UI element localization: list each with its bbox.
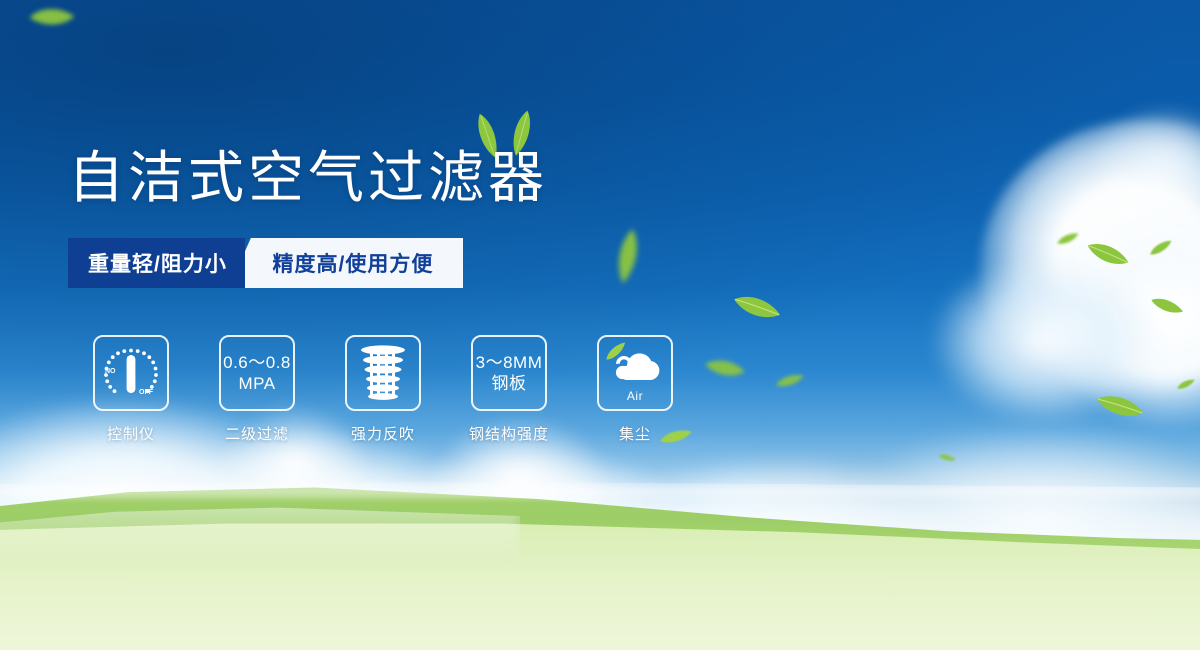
subtitle-right: 精度高/使用方便 [229,238,463,288]
leaf-icon [658,425,694,448]
feature-item[interactable]: 3～8MM 钢板 钢结构强度 [446,335,572,444]
pressure-text-icon: 0.6～0.8 MPA [223,352,291,395]
pressure-value: 0.6～0.8 [223,352,291,373]
feature-item[interactable]: 强力反吹 [320,335,446,444]
subtitle-bar: 重量轻/阻力小 精度高/使用方便 [68,238,463,288]
steel-thickness: 3～8MM [476,352,543,373]
feature-icon-box: 0.6～0.8 MPA [219,335,295,411]
gauge-right-label: OFF [139,389,154,396]
filter-stack-icon [357,344,409,402]
feature-item[interactable]: Air 集尘 [572,335,698,444]
page-title: 自洁式空气过滤器 [68,148,548,208]
feature-icon-box [345,335,421,411]
product-banner: 自洁式空气过滤器 重量轻/阻力小 精度高/使用方便 [0,0,1200,650]
subtitle-left-label: 重量轻/阻力小 [88,248,227,278]
cloud-air-icon [606,348,664,388]
feature-icon-box: NO OFF [93,335,169,411]
feature-icon-box: Air [597,335,673,411]
feature-label: 强力反吹 [351,423,415,444]
feature-item[interactable]: 0.6～0.8 MPA 二级过滤 [194,335,320,444]
feature-label: 二级过滤 [225,423,289,444]
feature-list: NO OFF 控制仪 0.6～0.8 MPA 二级过滤 [68,335,698,444]
steel-material: 钢板 [476,373,543,394]
cloud-air-label: Air [627,389,643,403]
pressure-unit: MPA [223,373,291,394]
feature-label: 钢结构强度 [469,423,549,444]
feature-label: 集尘 [619,423,651,444]
subtitle-right-label: 精度高/使用方便 [273,248,434,278]
feature-icon-box: 3～8MM 钢板 [471,335,547,411]
steel-plate-text-icon: 3～8MM 钢板 [476,352,543,395]
gauge-icon: NO OFF [99,342,163,404]
feature-item[interactable]: NO OFF 控制仪 [68,335,194,444]
feature-label: 控制仪 [107,423,155,444]
subtitle-left: 重量轻/阻力小 [68,238,245,288]
gauge-left-label: NO [105,368,116,375]
